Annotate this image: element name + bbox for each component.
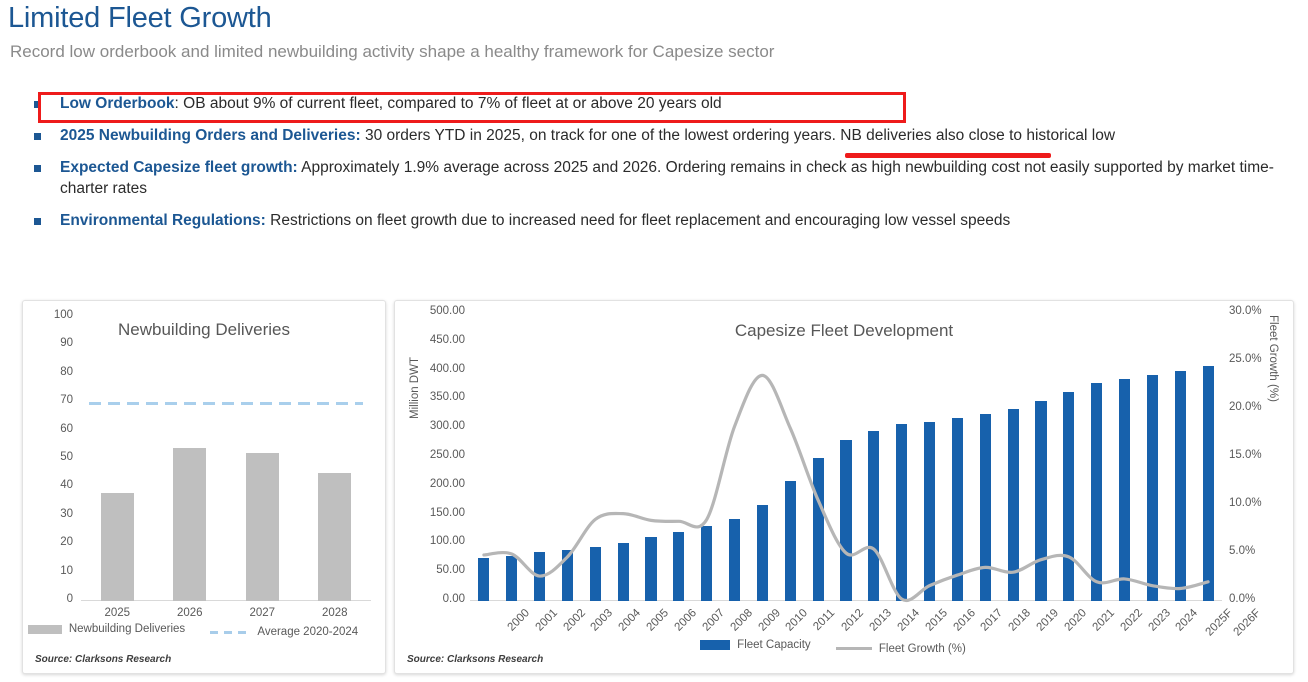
- y2-tick-label: 25.0%: [1229, 353, 1262, 365]
- right-chart-plot-area: [470, 313, 1222, 601]
- bullet-list: Low Orderbook: OB about 9% of current fl…: [32, 93, 1294, 242]
- x-tick-label: 2008: [728, 607, 755, 634]
- y-tick-label: 70: [31, 394, 73, 406]
- y-tick-label: 250.00: [417, 449, 465, 461]
- bar: [246, 453, 279, 601]
- x-tick-label: 2019: [1035, 607, 1062, 634]
- x-tick-label: 2002: [561, 607, 588, 634]
- y2-tick-label: 0.0%: [1229, 593, 1255, 605]
- legend-item-average: Average 2020-2024: [210, 626, 358, 638]
- y-tick-label: 350.00: [417, 391, 465, 403]
- y-tick-label: 90: [31, 337, 73, 349]
- y-tick-label: 30: [31, 508, 73, 520]
- legend-swatch-icon: [700, 640, 730, 650]
- list-item: Low Orderbook: OB about 9% of current fl…: [32, 93, 1294, 114]
- x-tick-label: 2015: [923, 607, 950, 634]
- x-tick-label: 2004: [617, 607, 644, 634]
- x-tick-label: 2000: [505, 607, 532, 634]
- page-subtitle: Record low orderbook and limited newbuil…: [10, 42, 774, 62]
- bullet-marker-icon: [34, 101, 41, 108]
- legend-item-newbuilding-deliveries: Newbuilding Deliveries: [28, 623, 185, 635]
- x-tick-label: 2012: [840, 607, 867, 634]
- y-tick-label: 300.00: [417, 420, 465, 432]
- legend-label: Newbuilding Deliveries: [69, 623, 185, 635]
- legend-item-fleet-growth: Fleet Growth (%): [836, 643, 966, 655]
- x-tick-label: 2003: [589, 607, 616, 634]
- bullet-text: Low Orderbook: OB about 9% of current fl…: [60, 93, 1294, 114]
- right-chart-legend: Fleet Capacity Fleet Growth (%): [395, 639, 1293, 655]
- bullet-lead: Expected Capesize fleet growth:: [60, 159, 298, 176]
- y-tick-label: 0: [31, 593, 73, 605]
- highlight-underline-annotation: [845, 153, 1051, 158]
- x-tick-label: 2022: [1118, 607, 1145, 634]
- y-tick-label: 450.00: [417, 334, 465, 346]
- y2-tick-label: 20.0%: [1229, 401, 1262, 413]
- x-tick-label: 2001: [533, 607, 560, 634]
- y-tick-label: 20: [31, 536, 73, 548]
- bullet-text: 2025 Newbuilding Orders and Deliveries: …: [60, 125, 1294, 146]
- y-tick-label: 100.00: [417, 535, 465, 547]
- legend-item-fleet-capacity: Fleet Capacity: [700, 639, 811, 651]
- x-tick-label: 2027: [226, 607, 299, 619]
- x-tick-label: 2010: [784, 607, 811, 634]
- y2-axis-label: Fleet Growth (%): [1267, 315, 1279, 402]
- y-tick-label: 150.00: [417, 507, 465, 519]
- y-tick-label: 80: [31, 366, 73, 378]
- legend-label: Fleet Growth (%): [879, 643, 966, 655]
- capesize-fleet-development-chart-panel: Capesize Fleet Development Million DWT F…: [394, 300, 1294, 674]
- list-item: Environmental Regulations: Restrictions …: [32, 210, 1294, 231]
- source-note: Source: Clarksons Research: [407, 654, 543, 665]
- fleet-growth-line: [470, 313, 1222, 601]
- x-tick-label: 2006: [673, 607, 700, 634]
- page-title: Limited Fleet Growth: [8, 2, 272, 35]
- bullet-lead: 2025 Newbuilding Orders and Deliveries:: [60, 127, 361, 144]
- y-tick-label: 400.00: [417, 363, 465, 375]
- bullet-marker-icon: [34, 133, 41, 140]
- x-tick-label: 2026: [154, 607, 227, 619]
- bullet-marker-icon: [34, 218, 41, 225]
- y-tick-label: 200.00: [417, 478, 465, 490]
- x-tick-label: 2013: [867, 607, 894, 634]
- x-tick-label: 2025F: [1204, 607, 1236, 639]
- y-tick-label: 50.00: [417, 564, 465, 576]
- y2-tick-label: 30.0%: [1229, 305, 1262, 317]
- bullet-text: Environmental Regulations: Restrictions …: [60, 210, 1294, 231]
- bullet-lead: Environmental Regulations:: [60, 212, 266, 229]
- x-tick-label: 2028: [299, 607, 372, 619]
- x-tick-label: 2024: [1174, 607, 1201, 634]
- source-note: Source: Clarksons Research: [35, 654, 171, 665]
- x-tick-label: 2009: [756, 607, 783, 634]
- left-chart-legend: Newbuilding Deliveries Average 2020-2024: [23, 623, 385, 638]
- x-tick-label: 2021: [1090, 607, 1117, 634]
- legend-dash-icon: [210, 631, 250, 634]
- y-tick-label: 60: [31, 423, 73, 435]
- x-tick-label: 2005: [645, 607, 672, 634]
- x-tick-label: 2018: [1007, 607, 1034, 634]
- bullet-lead: Low Orderbook: [60, 95, 175, 112]
- x-tick-label: 2026F: [1232, 607, 1264, 639]
- average-reference-line: [89, 402, 363, 405]
- bullet-body: Restrictions on fleet growth due to incr…: [266, 212, 1010, 229]
- slide: Limited Fleet Growth Record low orderboo…: [0, 0, 1308, 682]
- bullet-body: 30 orders YTD in 2025, on track for one …: [361, 127, 1115, 144]
- bar: [101, 493, 134, 601]
- y-tick-label: 40: [31, 479, 73, 491]
- x-tick-label: 2020: [1062, 607, 1089, 634]
- bar: [173, 448, 206, 601]
- legend-label: Fleet Capacity: [737, 639, 811, 651]
- newbuilding-deliveries-chart-panel: Newbuilding Deliveries 01020304050607080…: [22, 300, 386, 674]
- y-tick-label: 100: [31, 309, 73, 321]
- list-item: 2025 Newbuilding Orders and Deliveries: …: [32, 125, 1294, 146]
- y-tick-label: 10: [31, 565, 73, 577]
- x-tick-label: 2014: [895, 607, 922, 634]
- bullet-marker-icon: [34, 165, 41, 172]
- x-tick-label: 2017: [979, 607, 1006, 634]
- x-tick-label: 2023: [1146, 607, 1173, 634]
- y2-tick-label: 15.0%: [1229, 449, 1262, 461]
- x-tick-label: 2025: [81, 607, 154, 619]
- legend-label: Average 2020-2024: [257, 626, 358, 638]
- y-tick-label: 0.00: [417, 593, 465, 605]
- bar: [318, 473, 351, 601]
- y-tick-label: 500.00: [417, 305, 465, 317]
- bullet-body: : OB about 9% of current fleet, compared…: [175, 95, 722, 112]
- y2-tick-label: 5.0%: [1229, 545, 1255, 557]
- bullet-text: Expected Capesize fleet growth: Approxim…: [60, 157, 1294, 199]
- left-chart-plot-area: [81, 317, 371, 601]
- y2-tick-label: 10.0%: [1229, 497, 1262, 509]
- list-item: Expected Capesize fleet growth: Approxim…: [32, 157, 1294, 199]
- legend-swatch-icon: [28, 625, 62, 634]
- y-tick-label: 50: [31, 451, 73, 463]
- legend-line-icon: [836, 647, 872, 650]
- x-tick-label: 2016: [951, 607, 978, 634]
- x-tick-label: 2011: [812, 607, 838, 633]
- x-tick-label: 2007: [700, 607, 727, 634]
